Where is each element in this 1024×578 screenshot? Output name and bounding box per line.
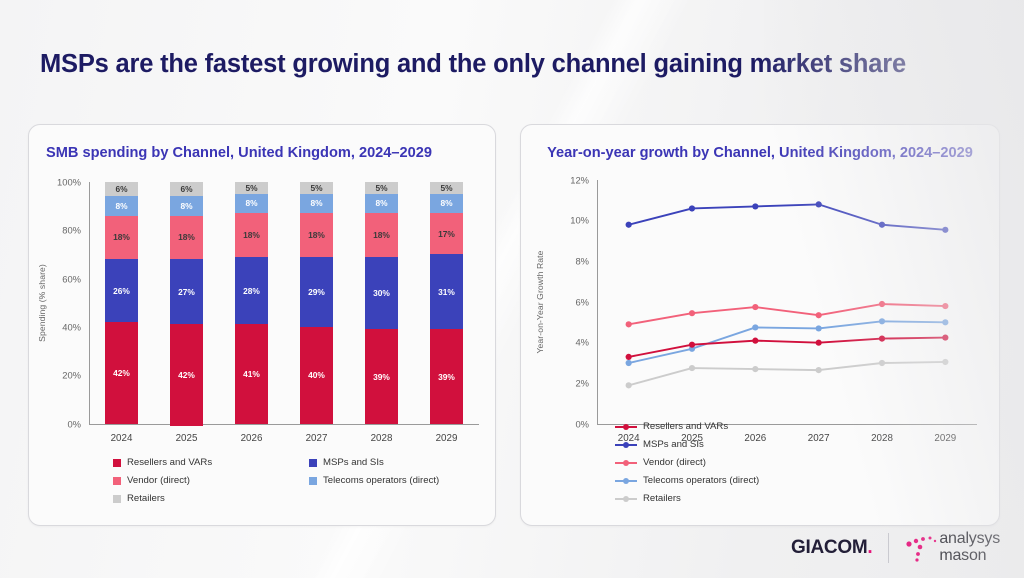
legend-item: Resellers and VARs <box>113 457 309 468</box>
bar-segment: 42% <box>170 324 203 426</box>
line-series <box>629 204 946 229</box>
line-data-point <box>626 354 632 360</box>
bar-segment-label: 5% <box>245 183 257 193</box>
bar-segment-label: 17% <box>438 229 455 239</box>
legend-item: Telecoms operators (direct) <box>615 475 811 486</box>
line-data-point <box>879 360 885 366</box>
bar-segment-label: 40% <box>308 370 325 380</box>
legend-label: Resellers and VARs <box>643 421 728 432</box>
line-data-point <box>626 221 632 227</box>
footer-logos: GIACOM. analysys mason <box>791 531 1000 564</box>
bar-segment: 6% <box>105 182 138 197</box>
bar-segment-label: 18% <box>113 232 130 242</box>
legend-label: MSPs and SIs <box>643 439 704 450</box>
bar-segment-label: 8% <box>245 198 257 208</box>
bar-segment-label: 26% <box>113 286 130 296</box>
bar-segment: 18% <box>365 213 398 257</box>
bar-segment-label: 39% <box>373 372 390 382</box>
chart-card-yoy-growth: Year-on-year growth by Channel, United K… <box>520 124 1000 526</box>
legend-swatch <box>113 459 121 467</box>
bar-segment-label: 29% <box>308 287 325 297</box>
bar-segment-label: 6% <box>180 184 192 194</box>
line-data-point <box>942 359 948 365</box>
legend-marker-dot <box>623 424 629 430</box>
x-axis-line-left <box>89 424 479 425</box>
giacom-wordmark: GIACOM <box>791 537 867 558</box>
bar-segment-label: 39% <box>438 372 455 382</box>
legend-item: Retailers <box>113 493 309 504</box>
bar-segment: 5% <box>365 182 398 194</box>
bar-segment-label: 30% <box>373 288 390 298</box>
line-data-point <box>816 367 822 373</box>
line-data-point <box>942 319 948 325</box>
bar-segment: 5% <box>300 182 333 194</box>
legend-item: Retailers <box>615 493 811 504</box>
bar-segment: 8% <box>235 194 268 213</box>
chart-title-yoy-growth: Year-on-year growth by Channel, United K… <box>521 125 999 164</box>
bar-segment-label: 8% <box>375 198 387 208</box>
bar-segment-label: 27% <box>178 287 195 297</box>
line-data-point <box>626 321 632 327</box>
x-tick-label-left: 2027 <box>306 433 328 444</box>
x-tick-label-left: 2024 <box>111 433 133 444</box>
y-tick-label-left: 0% <box>29 418 81 429</box>
line-data-point <box>816 325 822 331</box>
legend-marker-dot <box>623 460 629 466</box>
bar-segment-label: 6% <box>115 184 127 194</box>
x-tick-label-left: 2029 <box>436 433 458 444</box>
legend-marker-dot <box>623 496 629 502</box>
line-data-point <box>942 334 948 340</box>
bar-segment-label: 18% <box>373 230 390 240</box>
legend-label: Retailers <box>643 493 681 504</box>
line-data-point <box>879 301 885 307</box>
legend-item: MSPs and SIs <box>615 439 811 450</box>
legend-label: Telecoms operators (direct) <box>323 475 439 486</box>
bar-segment-label: 5% <box>440 183 452 193</box>
bar-segment: 8% <box>365 194 398 213</box>
x-tick-label-left: 2025 <box>176 433 198 444</box>
line-data-point <box>752 337 758 343</box>
line-data-point <box>752 324 758 330</box>
line-data-point <box>626 360 632 366</box>
legend-label: MSPs and SIs <box>323 457 384 468</box>
bar-segment-label: 31% <box>438 287 455 297</box>
line-data-point <box>879 221 885 227</box>
slide-background: MSPs are the fastest growing and the onl… <box>0 0 1024 578</box>
stacked-bar: 5%8%18%29%40% <box>300 182 333 424</box>
bar-segment-label: 28% <box>243 286 260 296</box>
stacked-bar: 5%8%18%28%41% <box>235 182 268 424</box>
legend-swatch <box>309 459 317 467</box>
line-data-point <box>689 205 695 211</box>
bar-segment-label: 18% <box>243 230 260 240</box>
line-data-point <box>879 318 885 324</box>
legend-label: Retailers <box>127 493 165 504</box>
bar-segment: 29% <box>300 257 333 327</box>
bar-segment: 17% <box>430 213 463 254</box>
bar-segment: 39% <box>430 329 463 423</box>
page-title: MSPs are the fastest growing and the onl… <box>40 50 990 79</box>
legend-item: MSPs and SIs <box>309 457 505 468</box>
analysys-mason-logo: analysys mason <box>905 531 1000 564</box>
giacom-logo: GIACOM. <box>791 537 872 559</box>
stacked-bar: 6%8%18%26%42% <box>105 182 138 424</box>
bar-segment: 39% <box>365 329 398 423</box>
y-tick-label-left: 80% <box>29 225 81 236</box>
bar-segment: 26% <box>105 259 138 322</box>
line-data-point <box>689 365 695 371</box>
legend-label: Vendor (direct) <box>127 475 190 486</box>
legend-item: Vendor (direct) <box>113 475 309 486</box>
line-data-point <box>942 303 948 309</box>
bar-segment-label: 8% <box>440 198 452 208</box>
bar-segment: 31% <box>430 254 463 329</box>
bar-segment: 41% <box>235 324 268 423</box>
line-data-point <box>752 304 758 310</box>
bar-segment: 5% <box>430 182 463 194</box>
legend-smb-spending: Resellers and VARsMSPs and SIsVendor (di… <box>113 457 513 511</box>
bar-segment: 40% <box>300 327 333 424</box>
analysys-mason-line1: analysys <box>939 531 1000 547</box>
analysys-mason-dots-icon <box>905 533 939 563</box>
bar-segment: 18% <box>105 216 138 260</box>
line-data-point <box>752 203 758 209</box>
bar-segment-label: 18% <box>178 232 195 242</box>
line-data-point <box>626 382 632 388</box>
legend-marker-dot <box>623 478 629 484</box>
bar-segment-label: 5% <box>375 183 387 193</box>
bar-segment: 8% <box>430 194 463 213</box>
bar-segment: 27% <box>170 259 203 324</box>
y-axis-line-left <box>89 182 90 424</box>
bar-segment-label: 8% <box>310 198 322 208</box>
y-tick-label-left: 20% <box>29 370 81 381</box>
y-tick-label-left: 40% <box>29 321 81 332</box>
line-data-point <box>689 310 695 316</box>
bar-segment: 8% <box>300 194 333 213</box>
line-data-point <box>816 201 822 207</box>
legend-label: Resellers and VARs <box>127 457 212 468</box>
chart-card-smb-spending: SMB spending by Channel, United Kingdom,… <box>28 124 496 526</box>
line-data-point <box>816 312 822 318</box>
bar-segment-label: 18% <box>308 230 325 240</box>
bar-segment-label: 42% <box>113 368 130 378</box>
line-series <box>629 337 946 356</box>
stacked-bar: 6%8%18%27%42% <box>170 182 203 424</box>
x-tick-label-left: 2026 <box>241 433 263 444</box>
line-data-point <box>816 339 822 345</box>
bar-segment-label: 8% <box>115 201 127 211</box>
legend-line-swatch <box>615 444 637 446</box>
bar-segment: 6% <box>170 182 203 197</box>
line-data-point <box>689 341 695 347</box>
legend-swatch <box>113 477 121 485</box>
analysys-mason-line2: mason <box>939 548 1000 564</box>
y-tick-label-left: 60% <box>29 273 81 284</box>
legend-line-swatch <box>615 462 637 464</box>
line-chart-plot-area: Year-on-Year Growth Rate 0%2%4%6%8%10%12… <box>521 164 999 454</box>
line-data-point <box>942 226 948 232</box>
bar-segment-label: 42% <box>178 370 195 380</box>
legend-line-swatch <box>615 498 637 500</box>
legend-swatch <box>113 495 121 503</box>
legend-item: Vendor (direct) <box>615 457 811 468</box>
chart-title-smb-spending: SMB spending by Channel, United Kingdom,… <box>29 125 495 164</box>
x-tick-label-left: 2028 <box>371 433 393 444</box>
legend-yoy-growth: Resellers and VARsMSPs and SIsVendor (di… <box>615 421 1005 511</box>
legend-line-swatch <box>615 480 637 482</box>
bar-segment: 18% <box>170 216 203 260</box>
analysys-mason-wordmark: analysys mason <box>939 531 1000 564</box>
legend-label: Vendor (direct) <box>643 457 706 468</box>
line-data-point <box>752 366 758 372</box>
bar-segment: 30% <box>365 257 398 330</box>
bar-segment: 5% <box>235 182 268 194</box>
giacom-dot: . <box>867 537 872 558</box>
bar-segment: 28% <box>235 257 268 325</box>
line-data-point <box>879 335 885 341</box>
legend-label: Telecoms operators (direct) <box>643 475 759 486</box>
bar-segment: 42% <box>105 322 138 424</box>
line-series-group <box>521 164 999 454</box>
legend-swatch <box>309 477 317 485</box>
bar-segment-label: 5% <box>310 183 322 193</box>
legend-line-swatch <box>615 426 637 428</box>
legend-item: Resellers and VARs <box>615 421 811 432</box>
bar-chart-plot-area: Spending (% share) 0%20%40%60%80%100%6%8… <box>29 164 495 454</box>
y-tick-label-left: 100% <box>29 176 81 187</box>
bar-segment-label: 41% <box>243 369 260 379</box>
bar-segment: 18% <box>235 213 268 257</box>
bar-segment: 18% <box>300 213 333 257</box>
bar-segment: 8% <box>170 196 203 215</box>
stacked-bar: 5%8%17%31%39% <box>430 182 463 424</box>
line-series <box>629 362 946 385</box>
legend-marker-dot <box>623 442 629 448</box>
legend-item: Telecoms operators (direct) <box>309 475 505 486</box>
bar-segment: 8% <box>105 196 138 215</box>
footer-divider <box>888 533 889 563</box>
bar-segment-label: 8% <box>180 201 192 211</box>
stacked-bar: 5%8%18%30%39% <box>365 182 398 424</box>
